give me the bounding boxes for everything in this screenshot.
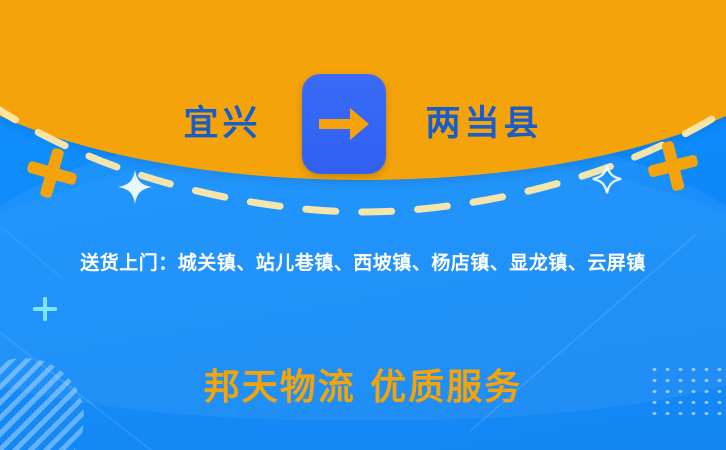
- route-title-row: 宜兴 两当县: [0, 78, 726, 170]
- destination-city: 两当县: [426, 107, 543, 142]
- delivery-towns-line: 送货上门：城关镇、站儿巷镇、西坡镇、杨店镇、显龙镇、云屏镇: [0, 248, 726, 275]
- sparkle-icon: [118, 170, 152, 204]
- arrow-right-icon: [302, 74, 386, 174]
- logistics-banner: 宜兴 两当县 送货上门：城关镇、站儿巷镇、西坡镇、杨店镇、显龙镇、云屏镇 邦天物…: [0, 0, 726, 450]
- plus-icon: [32, 296, 58, 322]
- origin-city: 宜兴: [183, 107, 261, 142]
- company-slogan: 邦天物流 优质服务: [0, 358, 726, 410]
